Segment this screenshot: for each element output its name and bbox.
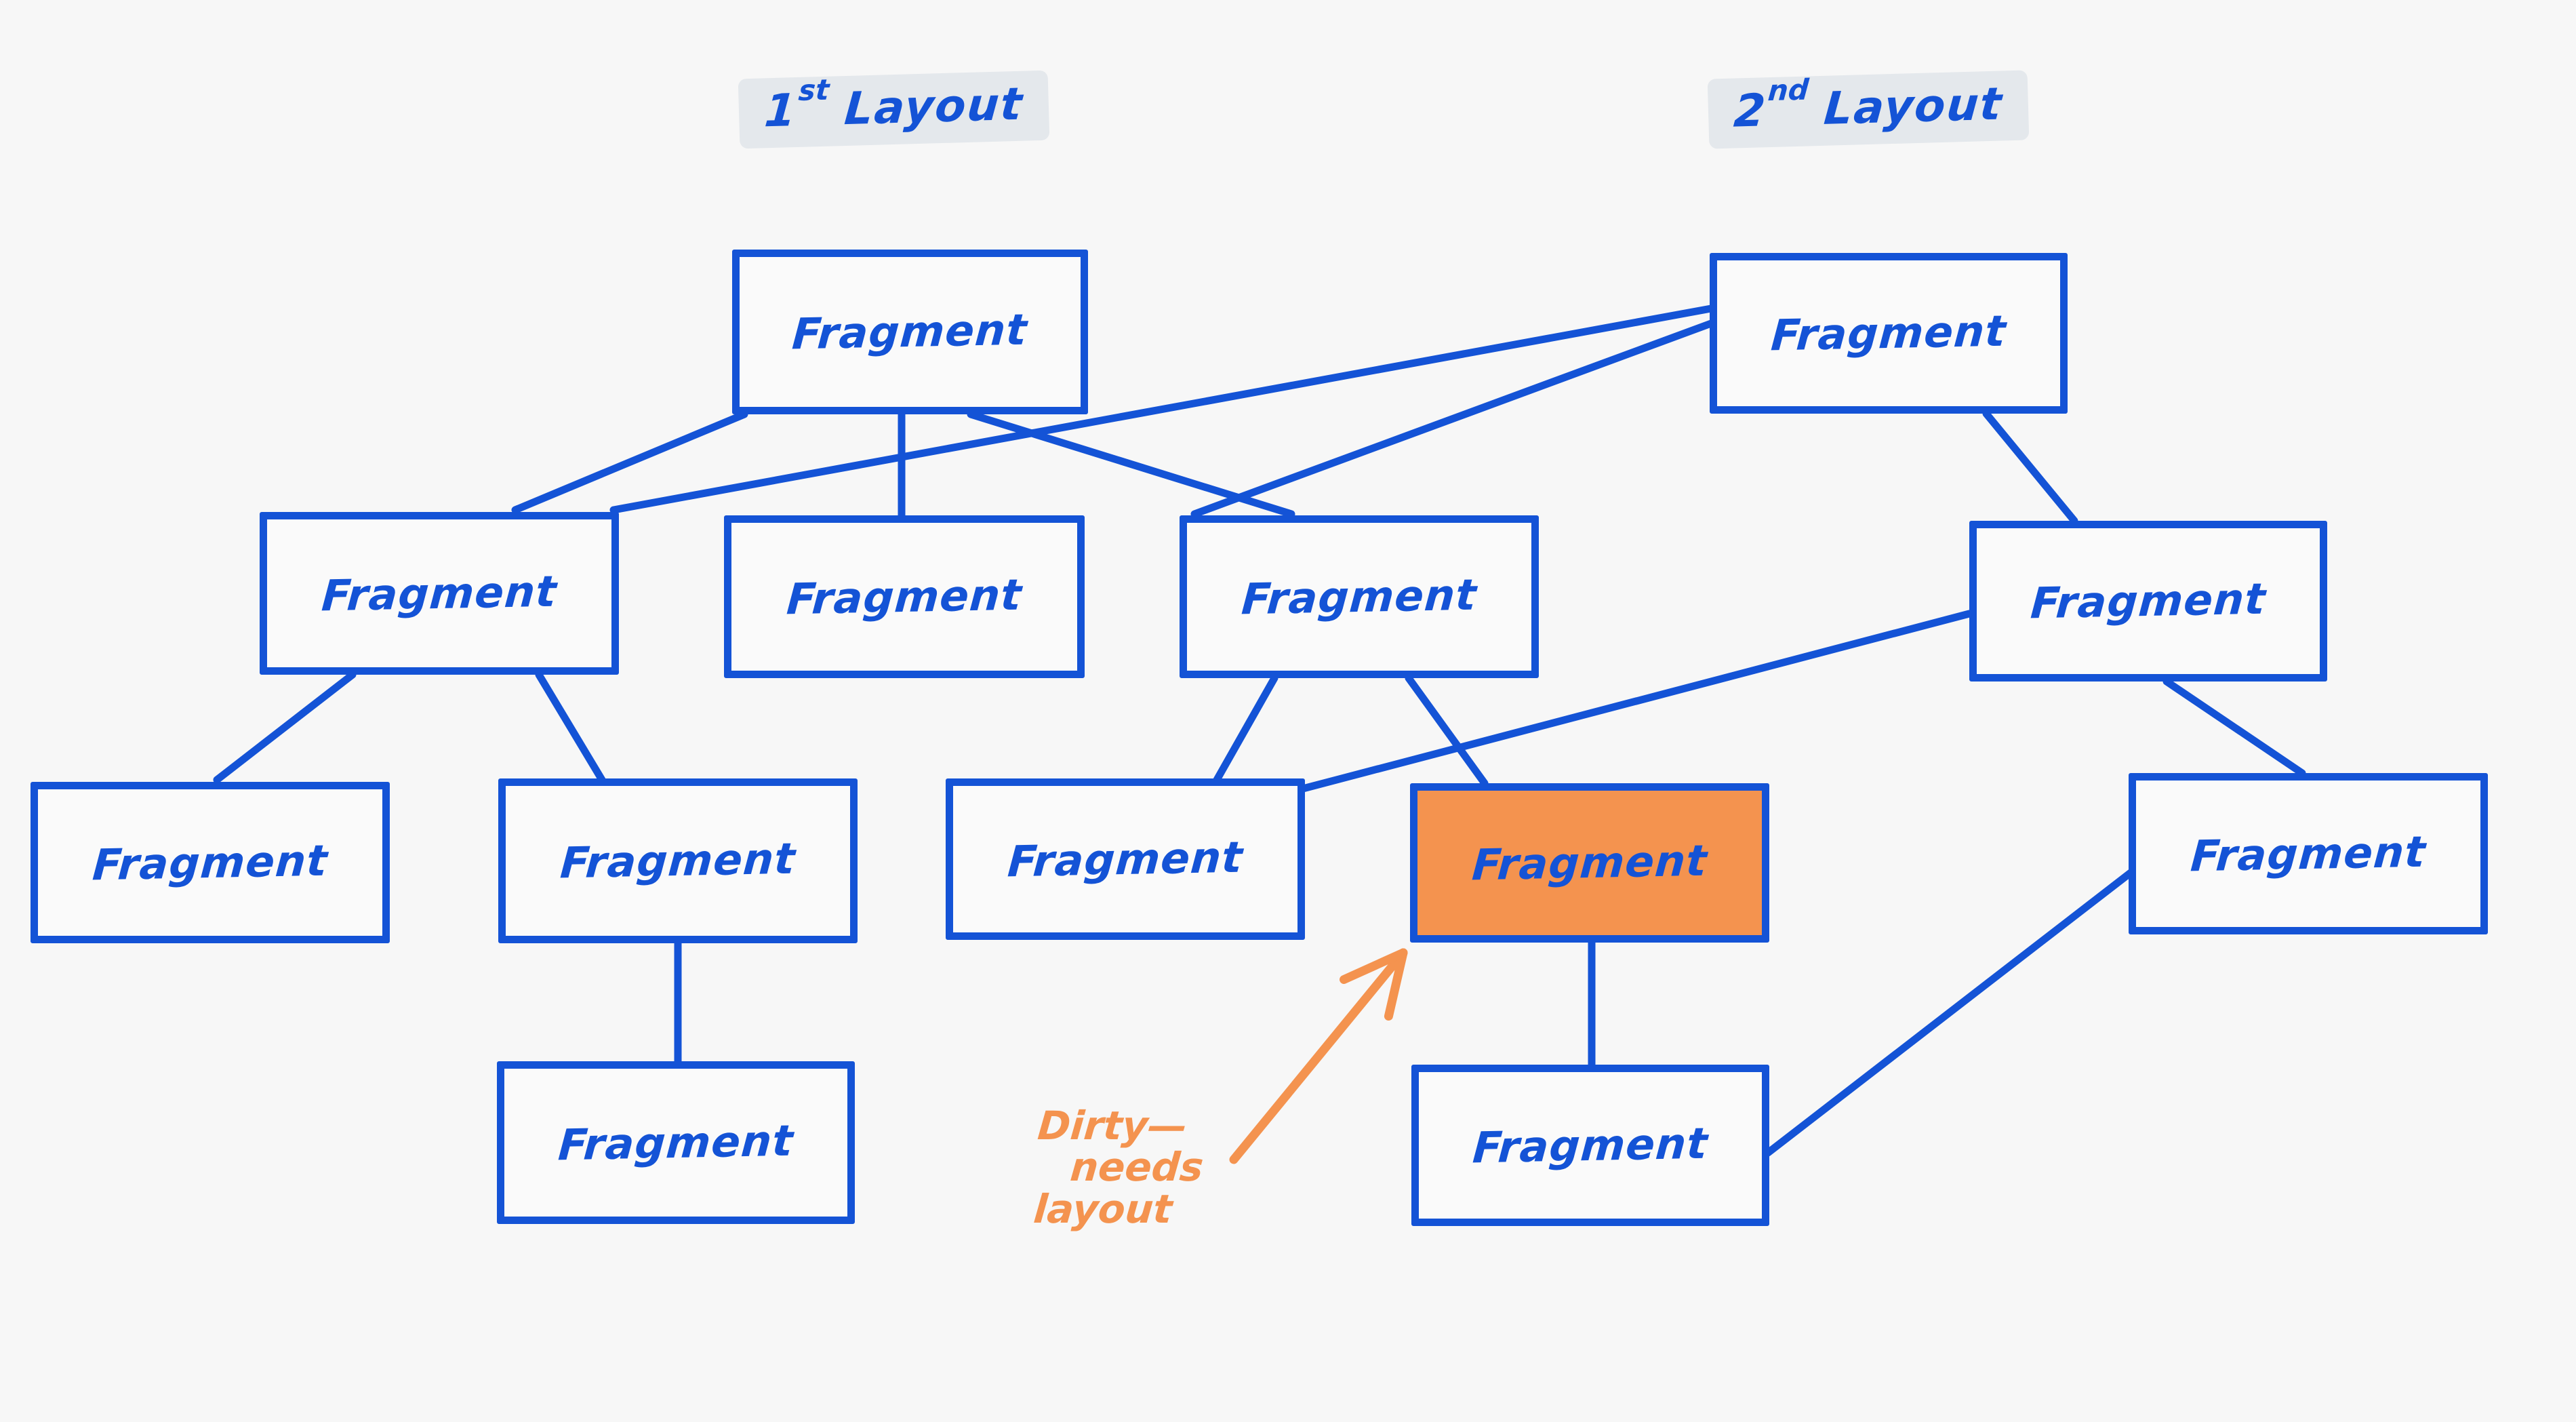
fragment-node[interactable]: Fragment [2129,773,2488,934]
fragment-node[interactable]: Fragment [946,778,1305,940]
fragment-node[interactable]: Fragment [1411,1065,1769,1226]
dirty-annotation-line-3: layout [1032,1189,1320,1230]
fragment-node-label: Fragment [1006,832,1245,886]
fragment-node-label: Fragment [559,834,797,888]
section-label-first-layout: 1st Layout [738,71,1050,149]
section-label-first-layout-text: 1st Layout [763,78,1025,138]
fragment-node-label: Fragment [1470,836,1709,890]
section-label-second-layout: 2nd Layout [1708,70,2030,149]
fragment-node-label: Fragment [2029,574,2268,629]
fragment-node-label: Fragment [91,835,329,890]
annotation-arrow-head [1388,953,1403,1016]
diagram-canvas: 1st Layout 2nd Layout FragmentFragmentFr… [0,0,2576,1422]
fragment-node-label: Fragment [791,305,1030,359]
fragment-node[interactable]: Fragment [498,778,858,943]
fragment-node-label: Fragment [2189,827,2428,881]
edge-n11-to-n12 [1986,414,2074,521]
dirty-annotation-line-1: Dirty— [1036,1105,1320,1147]
fragment-node[interactable]: Fragment [1969,521,2327,682]
edge-n12-to-n13 [2167,682,2302,773]
edge-n1-to-n4 [971,414,1291,514]
fragment-node[interactable]: Fragment [1710,253,2068,414]
fragment-node-label: Fragment [1240,570,1478,624]
fragment-node[interactable]: Fragment [497,1061,855,1224]
fragment-node-label: Fragment [320,566,559,620]
edge-n4-to-n7 [1217,678,1274,780]
fragment-node[interactable]: Fragment [724,515,1085,678]
edge-n2-to-n5 [217,675,353,780]
edge-n13-to-n10 [1768,868,2137,1153]
fragment-node[interactable]: Fragment [732,250,1088,414]
fragment-node-label: Fragment [557,1115,795,1170]
annotation-arrow-head [1344,953,1403,980]
edge-n4-to-n8 [1409,678,1485,783]
fragment-node-dirty[interactable]: Fragment [1410,783,1769,943]
section-label-second-layout-text: 2nd Layout [1732,77,2005,137]
fragment-node-label: Fragment [785,570,1024,624]
dirty-annotation: Dirty— needs layout [1034,1105,1319,1230]
edge-n2-to-n6 [539,675,602,780]
edge-n1-to-n2 [515,414,744,510]
fragment-node[interactable]: Fragment [31,782,390,943]
fragment-node[interactable]: Fragment [260,512,619,675]
fragment-node-label: Fragment [1471,1118,1710,1172]
fragment-node-label: Fragment [1769,307,2008,361]
edge-n11-to-n4 [1194,323,1711,514]
dirty-annotation-line-2: needs [1068,1147,1320,1188]
fragment-node[interactable]: Fragment [1180,515,1539,678]
